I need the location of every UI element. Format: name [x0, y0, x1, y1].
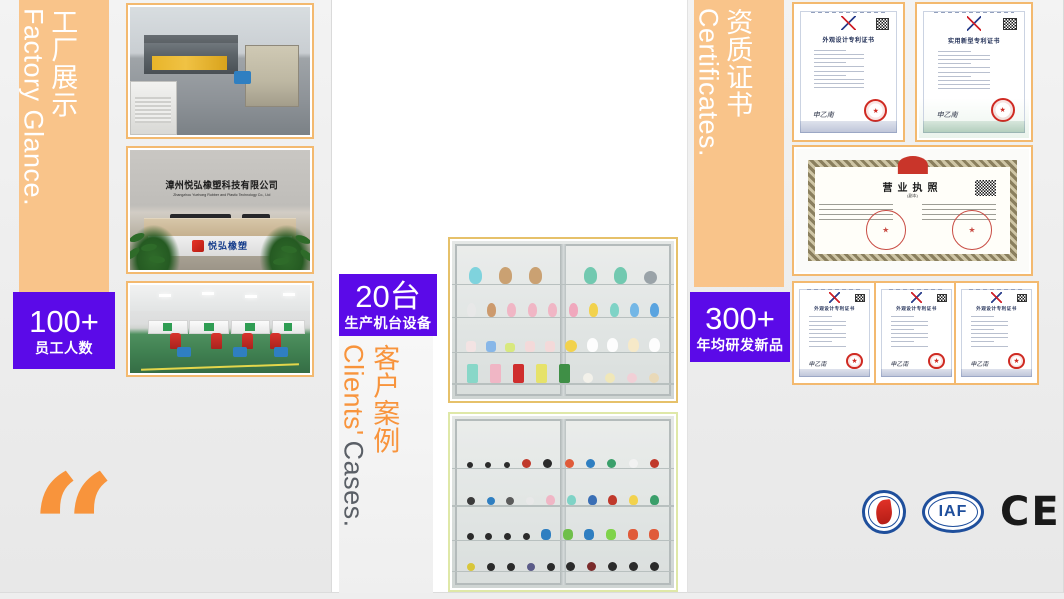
- factory-heading-zh: 工厂展示: [48, 8, 77, 206]
- license-title: 营业执照: [883, 179, 943, 194]
- factory-stat-badge: 100+ 员工人数: [13, 292, 115, 369]
- accreditation-logo-row: IAF CE: [862, 490, 1061, 534]
- ce-mark-label: CE: [1000, 489, 1061, 535]
- certificates-stat-number: 300+: [705, 303, 775, 334]
- certificates-heading-ribbon: 资质证书 Certificates.: [694, 0, 784, 287]
- clients-heading-en: Clients' Cases.: [339, 344, 368, 528]
- reception-wall-sign-zh: 漳州悦弘橡塑科技有限公司: [165, 177, 278, 191]
- factory-heading-en: Factory Glance.: [19, 8, 48, 206]
- ce-mark-logo-icon: CE: [1000, 492, 1061, 532]
- certificates-stat-caption: 年均研发新品: [697, 338, 784, 352]
- cert-title: 外观设计专利证书: [896, 306, 937, 312]
- cert-title: 外观设计专利证书: [814, 306, 855, 312]
- certificates-stat-badge: 300+ 年均研发新品: [690, 292, 790, 362]
- factory-stat-caption: 员工人数: [35, 341, 93, 355]
- decorative-quote-mark: “: [30, 455, 116, 599]
- photo-factory-assembly-workshop[interactable]: [126, 281, 314, 377]
- photo-product-showcase-cabinet-top[interactable]: [448, 237, 678, 403]
- clients-heading-zh: 客户案例: [370, 344, 399, 528]
- certificates-heading-en: Certificates.: [694, 8, 723, 157]
- cert-business-license[interactable]: 营业执照 (副本): [792, 145, 1033, 276]
- factory-heading-ribbon: 工厂展示 Factory Glance.: [19, 0, 109, 298]
- cert-title: 外观设计专利证书: [976, 306, 1017, 312]
- cert-design-patent-certificate-4[interactable]: 外观设计专利证书 申乙南: [954, 281, 1039, 385]
- reception-desk-logo-text: 悦弘橡塑: [208, 239, 248, 252]
- factory-stat-number: 100+: [29, 306, 99, 337]
- cert-design-patent-certificate-2[interactable]: 外观设计专利证书 申乙南: [792, 281, 877, 385]
- license-subtitle: (副本): [907, 193, 918, 199]
- cert-design-patent-certificate-1[interactable]: 外观设计专利证书 申乙南: [792, 2, 905, 142]
- photo-product-showcase-cabinet-bottom[interactable]: [448, 412, 678, 592]
- cqc-logo-icon: [862, 490, 906, 534]
- reception-wall-sign-en: Zhangzhou Yuehong Rubber and Plastic Tec…: [173, 193, 270, 197]
- cert-title: 实用新型专利证书: [948, 36, 1000, 45]
- clients-heading-ribbon: 客户案例 Clients' Cases.: [339, 336, 433, 593]
- clients-stat-caption: 生产机台设备: [345, 316, 432, 330]
- page-root: 工厂展示 Factory Glance. 100+ 员工人数 漳州悦弘橡塑科技有…: [0, 0, 1064, 599]
- cert-utility-model-patent-certificate[interactable]: 实用新型专利证书 申乙南: [915, 2, 1033, 142]
- photo-factory-production-line[interactable]: [126, 3, 314, 139]
- iaf-logo-icon: IAF: [922, 491, 984, 533]
- clients-stat-number: 20台: [355, 281, 420, 312]
- clients-stat-badge: 20台 生产机台设备: [339, 274, 437, 336]
- cert-design-patent-certificate-3[interactable]: 外观设计专利证书 申乙南: [874, 281, 959, 385]
- cert-title: 外观设计专利证书: [822, 35, 874, 44]
- photo-factory-reception-lobby[interactable]: 漳州悦弘橡塑科技有限公司 Zhangzhou Yuehong Rubber an…: [126, 146, 314, 274]
- certificates-heading-zh: 资质证书: [723, 8, 752, 157]
